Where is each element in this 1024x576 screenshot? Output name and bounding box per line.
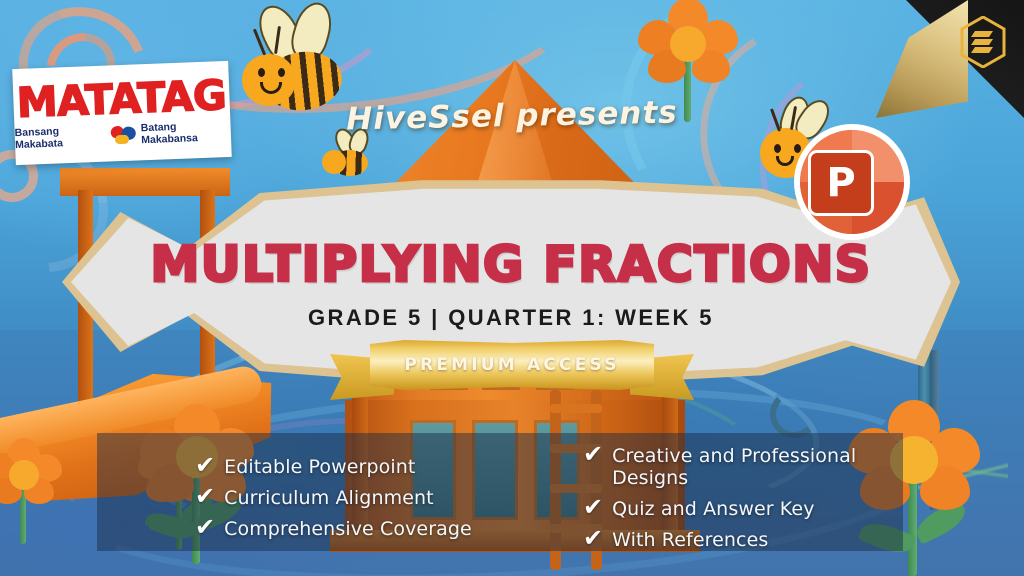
feature-label: Quiz and Answer Key <box>612 498 814 520</box>
matatag-logo: MATATAG Bansang Makabata Batang Makabans… <box>12 61 232 165</box>
features-left-column: ✔ Editable Powerpoint ✔ Curriculum Align… <box>97 441 497 551</box>
check-icon: ✔ <box>583 526 603 550</box>
ribbon-body: PREMIUM ACCESS <box>370 340 654 390</box>
clasped-hands-icon <box>109 125 136 144</box>
list-item: ✔ Quiz and Answer Key <box>583 495 903 520</box>
feature-label: With References <box>612 529 768 551</box>
ladder-rung <box>550 404 602 413</box>
flower <box>0 436 66 546</box>
features-right-column: ✔ Creative and Professional Designs ✔ Qu… <box>497 441 903 551</box>
page-subtitle: GRADE 5 | QUARTER 1: WEEK 5 <box>308 305 714 331</box>
feature-label: Creative and Professional Designs <box>612 445 903 489</box>
check-icon: ✔ <box>583 442 603 466</box>
matatag-tagline-left: Bansang Makabata <box>14 124 105 151</box>
check-icon: ✔ <box>583 495 603 519</box>
feature-label: Curriculum Alignment <box>224 487 434 509</box>
microsoft-powerpoint-icon: P <box>794 124 910 240</box>
feature-label: Comprehensive Coverage <box>224 518 472 540</box>
powerpoint-letter: P <box>826 163 855 203</box>
premium-access-label: PREMIUM ACCESS <box>404 355 619 375</box>
list-item: ✔ Curriculum Alignment <box>195 484 497 509</box>
slide-canvas: HiveSsel presents MATATAG Bansang Makaba… <box>0 0 1024 576</box>
feature-label: Editable Powerpoint <box>224 456 415 478</box>
matatag-wordmark: MATATAG <box>16 75 227 124</box>
list-item: ✔ Comprehensive Coverage <box>195 515 497 540</box>
list-item: ✔ Editable Powerpoint <box>195 453 497 478</box>
check-icon: ✔ <box>195 515 215 539</box>
features-overlay-panel: ✔ Editable Powerpoint ✔ Curriculum Align… <box>97 433 903 551</box>
list-item: ✔ With References <box>583 526 903 551</box>
swing-hook <box>770 390 818 438</box>
powerpoint-tile: P <box>808 150 874 216</box>
matatag-tagline-right: Batang Makabansa <box>141 119 232 146</box>
premium-ribbon: PREMIUM ACCESS <box>330 340 694 402</box>
list-item: ✔ Creative and Professional Designs <box>583 442 903 489</box>
hexagon-s-monogram-icon <box>960 16 1006 68</box>
check-icon: ✔ <box>195 484 215 508</box>
page-title: MULTIPLYING FRACTIONS <box>150 240 871 289</box>
check-icon: ✔ <box>195 453 215 477</box>
